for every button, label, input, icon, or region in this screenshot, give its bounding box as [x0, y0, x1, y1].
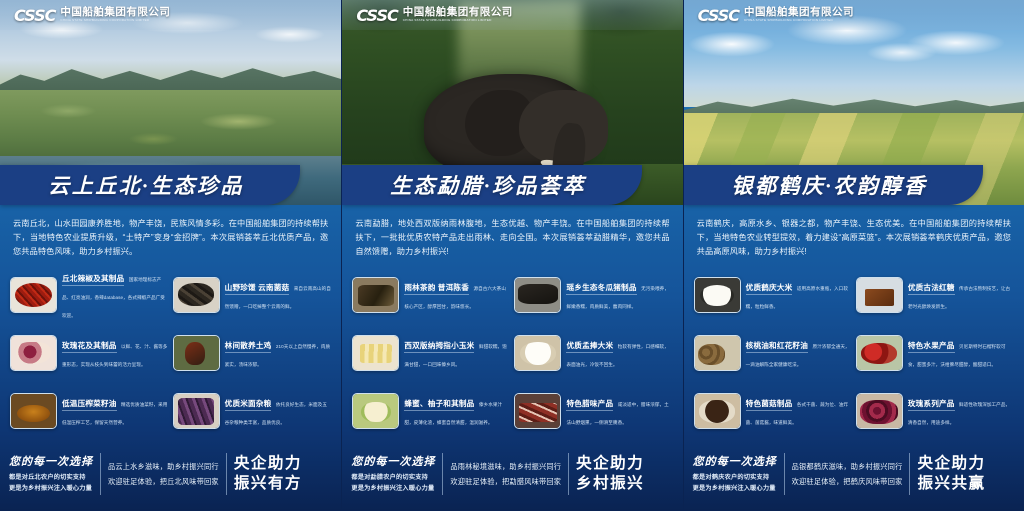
product-title: 丘北辣椒及其制品 — [62, 274, 124, 286]
footer-slogan-block: 您的每一次选择 都是对勐腊农户的切实支持 更是为乡村振兴注入暖心力量 — [351, 453, 435, 495]
product-card[interactable]: 林间散养土鸡 210天以上自然慢养，肉质紧实，汤味浓郁。 — [173, 326, 332, 381]
panel-title: 云上丘北·生态珍品 — [0, 165, 300, 205]
cssc-name-block: 中国船舶集团有限公司 CHINA STATE SHIPBUILDING CORP… — [403, 7, 513, 22]
tea-icon — [353, 278, 398, 312]
product-title: 玫瑰系列产品 — [908, 399, 955, 411]
footer-sub-line-1: 都是对鹤庆农户的切实支持 — [693, 473, 777, 484]
panel-intro: 云南勐腊，地处西双版纳雨林腹地，生态优越、物产丰饶。在中国船舶集团的持续帮扶下，… — [342, 205, 682, 267]
footer-headline-line-2: 振兴有方 — [234, 474, 302, 494]
footer-divider — [442, 453, 443, 495]
cssc-name-cn: 中国船舶集团有限公司 — [60, 7, 170, 18]
panel-mengla: CSSC 中国船舶集团有限公司 CHINA STATE SHIPBUILDING… — [341, 0, 682, 511]
product-thumbnail — [856, 335, 903, 371]
title-banner: 银都鹤庆·农韵醇香 — [684, 165, 1024, 205]
product-text: 丘北辣椒及其制品 国家地理标志产品、红亮油润，香辣database，各式辣椒产品… — [62, 268, 169, 322]
footer-sub-line-2: 更是为乡村振兴注入暖心力量 — [693, 484, 777, 495]
panel-intro: 云南鹤庆，高原水乡、银器之都，物产丰饶、生态优美。在中国船舶集团的持续帮扶下，当… — [684, 205, 1024, 267]
product-thumbnail — [352, 335, 399, 371]
product-card[interactable]: 雨林茶韵 普洱陈香 源自古六大茶山核心产区，醇厚回甘，韵味悠长。 — [352, 267, 510, 322]
footer-sub-line-2: 更是为乡村振兴注入暖心力量 — [9, 484, 93, 495]
walnut-oil-icon — [695, 336, 740, 370]
product-title: 核桃油和红花籽油 — [746, 341, 808, 353]
footer-sub-line-1: 都是对丘北农户的切实支持 — [9, 473, 93, 484]
footer-divider — [568, 453, 569, 495]
panel-title: 银都鹤庆·农韵醇香 — [684, 165, 983, 205]
footer-headline-block: 央企助力 乡村振兴 — [576, 454, 644, 493]
product-card[interactable]: 玫瑰花及其制品 以鲜、花、汁、酱等多重形态，实现从枝头到味蕾的活力呈现。 — [10, 326, 169, 381]
product-text: 优质米面杂粮 依托良好生态，米面及五谷杂粮种类丰富，品质优良。 — [225, 393, 332, 429]
product-card[interactable]: 瑶乡生态冬瓜猪制品 无污染喂养，鲜嫩香糯，肉质鲜美，馥肉同样。 — [514, 267, 672, 322]
product-title: 特色腊味产品 — [566, 399, 613, 411]
product-thumbnail — [694, 335, 741, 371]
product-thumbnail — [173, 277, 220, 313]
product-card[interactable]: 优质孟捧大米 粒软有弹性，口感细软，表面油光，冷饭不回生。 — [514, 326, 672, 381]
panel-qiubei: CSSC 中国船舶集团有限公司 CHINA STATE SHIPBUILDING… — [0, 0, 341, 511]
panel-footer: 您的每一次选择 都是对鹤庆农户的切实支持 更是为乡村振兴注入暖心力量 品银都鹤庆… — [684, 443, 1024, 511]
chili-icon — [11, 278, 56, 312]
pig-icon — [515, 278, 560, 312]
cssc-wordmark-icon: CSSC — [14, 6, 55, 25]
product-title: 蜂蜜、柚子和其制品 — [404, 399, 474, 411]
product-card[interactable]: 蜂蜜、柚子和其制品 傣乡水果汁甜，皮薄化渣，蜂蜜自然清甜，温润滋养。 — [352, 384, 510, 439]
rice-bowl-icon — [695, 278, 740, 312]
product-text: 特色菌菇制品 各式干菌、蔬为位、油炸菌、菌菇酱，味道鲜美。 — [746, 393, 852, 429]
footer-invite-line-1: 品云上水乡滋味，助乡村振兴同行 — [108, 459, 219, 474]
footer-script-slogan: 您的每一次选择 — [9, 453, 93, 469]
product-card[interactable]: 西双版纳拇指小玉米 鲜甜软糯，饱满甘甜，一口回味傣乡风。 — [352, 326, 510, 381]
product-thumbnail — [514, 277, 561, 313]
footer-headline-line-1: 央企助力 — [576, 454, 644, 474]
product-thumbnail — [10, 393, 57, 429]
footer-divider — [784, 453, 785, 495]
panel-heqing: CSSC 中国船舶集团有限公司 CHINA STATE SHIPBUILDING… — [683, 0, 1024, 511]
cssc-name-cn: 中国船舶集团有限公司 — [403, 7, 513, 18]
logo-bar: CSSC 中国船舶集团有限公司 CHINA STATE SHIPBUILDING… — [342, 0, 682, 30]
product-thumbnail — [173, 393, 220, 429]
product-card[interactable]: 低温压榨菜籽油 精选优质油菜籽，采用低温压榨工艺，保留天然营养。 — [10, 384, 169, 439]
footer-divider — [100, 453, 101, 495]
product-grid: 优质鹤庆大米 适用高原水重瓶，入口软糯，粒粒鲜香。 优质古法红糖 传承古法熬制技… — [684, 267, 1024, 443]
product-text: 雨林茶韵 普洱陈香 源自古六大茶山核心产区，醇厚回甘，韵味悠长。 — [404, 277, 510, 313]
footer-headline-line-1: 央企助力 — [234, 454, 302, 474]
product-title: 优质孟捧大米 — [566, 341, 613, 353]
footer-sub-line-2: 更是为乡村振兴注入暖心力量 — [351, 484, 435, 495]
cssc-name-en: CHINA STATE SHIPBUILDING CORPORATION LIM… — [403, 19, 513, 22]
product-thumbnail — [10, 277, 57, 313]
product-thumbnail — [352, 277, 399, 313]
footer-sub-line-1: 都是对勐腊农户的切实支持 — [351, 473, 435, 484]
cssc-name-en: CHINA STATE SHIPBUILDING CORPORATION LIM… — [744, 19, 854, 22]
footer-invite-line-1: 品银都鹤庆滋味，助乡村振兴同行 — [792, 459, 903, 474]
product-text: 山野珍馐 云南菌菇 来自云南高山的自然馈赠，一口吃掉整个云南的鲜。 — [225, 277, 332, 313]
footer-invite-line-2: 欢迎驻足体验，把鹤庆风味带回家 — [792, 474, 903, 489]
panel-footer: 您的每一次选择 都是对勐腊农户的切实支持 更是为乡村振兴注入暖心力量 品雨林秘境… — [342, 443, 682, 511]
corn-icon — [353, 336, 398, 370]
poster-board: CSSC 中国船舶集团有限公司 CHINA STATE SHIPBUILDING… — [0, 0, 1024, 511]
grain-icon — [174, 394, 219, 428]
product-card[interactable]: 山野珍馐 云南菌菇 来自云南高山的自然馈赠，一口吃掉整个云南的鲜。 — [173, 267, 332, 322]
footer-invite-line-2: 欢迎驻足体验，把丘北风味带回家 — [108, 474, 219, 489]
product-title: 优质古法红糖 — [908, 283, 955, 295]
product-card[interactable]: 优质古法红糖 传承古法熬制技艺，让古老时光醇焕发新生。 — [856, 267, 1014, 322]
product-title: 瑶乡生态冬瓜猪制品 — [566, 283, 636, 295]
chicken-icon — [174, 336, 219, 370]
footer-divider — [909, 453, 910, 495]
footer-invite-block: 品雨林秘境滋味，助乡村振兴同行 欢迎驻足体验，把勐腊风味带回家 — [450, 459, 561, 489]
logo-bar: CSSC 中国船舶集团有限公司 CHINA STATE SHIPBUILDING… — [0, 0, 341, 30]
product-card[interactable]: 优质鹤庆大米 适用高原水重瓶，入口软糯，粒粒鲜香。 — [694, 267, 852, 322]
product-thumbnail — [514, 335, 561, 371]
product-title: 西双版纳拇指小玉米 — [404, 341, 474, 353]
fungus-icon — [695, 394, 740, 428]
cssc-logo: CSSC 中国船舶集团有限公司 CHINA STATE SHIPBUILDING… — [0, 6, 170, 25]
footer-invite-block: 品银都鹤庆滋味，助乡村振兴同行 欢迎驻足体验，把鹤庆风味带回家 — [792, 459, 903, 489]
panel-title: 生态勐腊·珍品荟萃 — [342, 165, 641, 205]
product-grid: 雨林茶韵 普洱陈香 源自古六大茶山核心产区，醇厚回甘，韵味悠长。 瑶乡生态冬瓜猪… — [342, 267, 682, 443]
panel-intro: 云南丘北，山水田园康养胜地，物产丰饶，民族风情多彩。在中国船舶集团的持续帮扶下，… — [0, 205, 341, 267]
footer-headline-line-2: 乡村振兴 — [576, 474, 644, 494]
product-card[interactable]: 丘北辣椒及其制品 国家地理标志产品、红亮油润，香辣database，各式辣椒产品… — [10, 267, 169, 322]
footer-slogan-block: 您的每一次选择 都是对丘北农户的切实支持 更是为乡村振兴注入暖心力量 — [9, 453, 93, 495]
product-title: 低温压榨菜籽油 — [62, 399, 117, 411]
product-thumbnail — [173, 335, 220, 371]
product-text: 低温压榨菜籽油 精选优质油菜籽，采用低温压榨工艺，保留天然营养。 — [62, 393, 169, 429]
footer-headline-block: 央企助力 振兴有方 — [234, 454, 302, 493]
product-title: 优质米面杂粮 — [225, 399, 272, 411]
product-text: 玫瑰系列产品 鲜适性玫瑰深加工产品，清香自然，用途多样。 — [908, 393, 1014, 429]
product-text: 核桃油和红花籽油 原汁浓郁全通天，一滴油解陈全家健康吃法。 — [746, 335, 852, 371]
brown-sugar-icon — [857, 278, 902, 312]
rice-icon — [515, 336, 560, 370]
footer-headline-block: 央企助力 振兴共赢 — [917, 454, 985, 493]
product-text: 优质孟捧大米 粒软有弹性，口感细软，表面油光，冷饭不回生。 — [566, 335, 672, 371]
product-title: 特色水果产品 — [908, 341, 955, 353]
product-thumbnail — [694, 393, 741, 429]
mushroom-icon — [174, 278, 219, 312]
honey-icon — [353, 394, 398, 428]
footer-invite-block: 品云上水乡滋味，助乡村振兴同行 欢迎驻足体验，把丘北风味带回家 — [108, 459, 219, 489]
title-banner: 生态勐腊·珍品荟萃 — [342, 165, 682, 205]
footer-headline-line-1: 央企助力 — [917, 454, 985, 474]
product-text: 林间散养土鸡 210天以上自然慢养，肉质紧实，汤味浓郁。 — [225, 335, 332, 371]
product-card[interactable]: 优质米面杂粮 依托良好生态，米面及五谷杂粮种类丰富，品质优良。 — [173, 384, 332, 439]
oil-bowl-icon — [11, 394, 56, 428]
title-banner: 云上丘北·生态珍品 — [0, 165, 341, 205]
product-text: 玫瑰花及其制品 以鲜、花、汁、酱等多重形态，实现从枝头到味蕾的活力呈现。 — [62, 335, 169, 371]
product-grid: 丘北辣椒及其制品 国家地理标志产品、红亮油润，香辣database，各式辣椒产品… — [0, 267, 341, 443]
footer-script-slogan: 您的每一次选择 — [693, 453, 777, 469]
cssc-name-block: 中国船舶集团有限公司 CHINA STATE SHIPBUILDING CORP… — [60, 7, 170, 22]
product-title: 特色菌菇制品 — [746, 399, 793, 411]
rose-icon — [11, 336, 56, 370]
product-text: 特色腊味产品 咸淡适中，腊味浓郁，土法山野烟熏，一侧滑至腌香。 — [566, 393, 672, 429]
product-text: 西双版纳拇指小玉米 鲜甜软糯，饱满甘甜，一口回味傣乡风。 — [404, 335, 510, 371]
product-text: 瑶乡生态冬瓜猪制品 无污染喂养，鲜嫩香糯，肉质鲜美，馥肉同样。 — [566, 277, 672, 313]
cssc-wordmark-icon: CSSC — [356, 6, 397, 25]
product-thumbnail — [352, 393, 399, 429]
product-thumbnail — [10, 335, 57, 371]
product-card[interactable]: 特色腊味产品 咸淡适中，腊味浓郁，土法山野烟熏，一侧滑至腌香。 — [514, 384, 672, 439]
footer-divider — [226, 453, 227, 495]
product-thumbnail — [514, 393, 561, 429]
farmland-layer — [0, 90, 341, 160]
panel-footer: 您的每一次选择 都是对丘北农户的切实支持 更是为乡村振兴注入暖心力量 品云上水乡… — [0, 443, 341, 511]
cssc-name-cn: 中国船舶集团有限公司 — [744, 7, 854, 18]
product-title: 山野珍馐 云南菌菇 — [225, 283, 290, 295]
fruit-icon — [857, 336, 902, 370]
product-text: 优质鹤庆大米 适用高原水重瓶，入口软糯，粒粒鲜香。 — [746, 277, 852, 313]
product-card[interactable]: 特色水果产品 贝尼斯特时石榴籽软可食，甜蜜多汁，沃柑脾尽甜醇，酸甜适口。 — [856, 326, 1014, 381]
product-thumbnail — [856, 277, 903, 313]
product-title: 林间散养土鸡 — [225, 341, 272, 353]
cssc-name-en: CHINA STATE SHIPBUILDING CORPORATION LIM… — [60, 19, 170, 22]
cssc-wordmark-icon: CSSC — [698, 6, 739, 25]
product-card[interactable]: 玫瑰系列产品 鲜适性玫瑰深加工产品，清香自然，用途多样。 — [856, 384, 1014, 439]
product-thumbnail — [694, 277, 741, 313]
cssc-logo: CSSC 中国船舶集团有限公司 CHINA STATE SHIPBUILDING… — [342, 6, 512, 25]
footer-script-slogan: 您的每一次选择 — [351, 453, 435, 469]
rose-series-icon — [857, 394, 902, 428]
cssc-name-block: 中国船舶集团有限公司 CHINA STATE SHIPBUILDING CORP… — [744, 7, 854, 22]
footer-invite-line-1: 品雨林秘境滋味，助乡村振兴同行 — [450, 459, 561, 474]
product-card[interactable]: 核桃油和红花籽油 原汁浓郁全通天，一滴油解陈全家健康吃法。 — [694, 326, 852, 381]
product-text: 蜂蜜、柚子和其制品 傣乡水果汁甜，皮薄化渣，蜂蜜自然清甜，温润滋养。 — [404, 393, 510, 429]
footer-invite-line-2: 欢迎驻足体验，把勐腊风味带回家 — [450, 474, 561, 489]
product-text: 特色水果产品 贝尼斯特时石榴籽软可食，甜蜜多汁，沃柑脾尽甜醇，酸甜适口。 — [908, 335, 1014, 371]
logo-bar: CSSC 中国船舶集团有限公司 CHINA STATE SHIPBUILDING… — [684, 0, 1024, 30]
product-title: 优质鹤庆大米 — [746, 283, 793, 295]
footer-headline-line-2: 振兴共赢 — [917, 474, 985, 494]
bacon-icon — [515, 394, 560, 428]
product-title: 玫瑰花及其制品 — [62, 341, 117, 353]
product-title: 雨林茶韵 普洱陈香 — [404, 283, 469, 295]
product-text: 优质古法红糖 传承古法熬制技艺，让古老时光醇焕发新生。 — [908, 277, 1014, 313]
product-card[interactable]: 特色菌菇制品 各式干菌、蔬为位、油炸菌、菌菇酱，味道鲜美。 — [694, 384, 852, 439]
cssc-logo: CSSC 中国船舶集团有限公司 CHINA STATE SHIPBUILDING… — [684, 6, 854, 25]
product-thumbnail — [856, 393, 903, 429]
footer-slogan-block: 您的每一次选择 都是对鹤庆农户的切实支持 更是为乡村振兴注入暖心力量 — [693, 453, 777, 495]
